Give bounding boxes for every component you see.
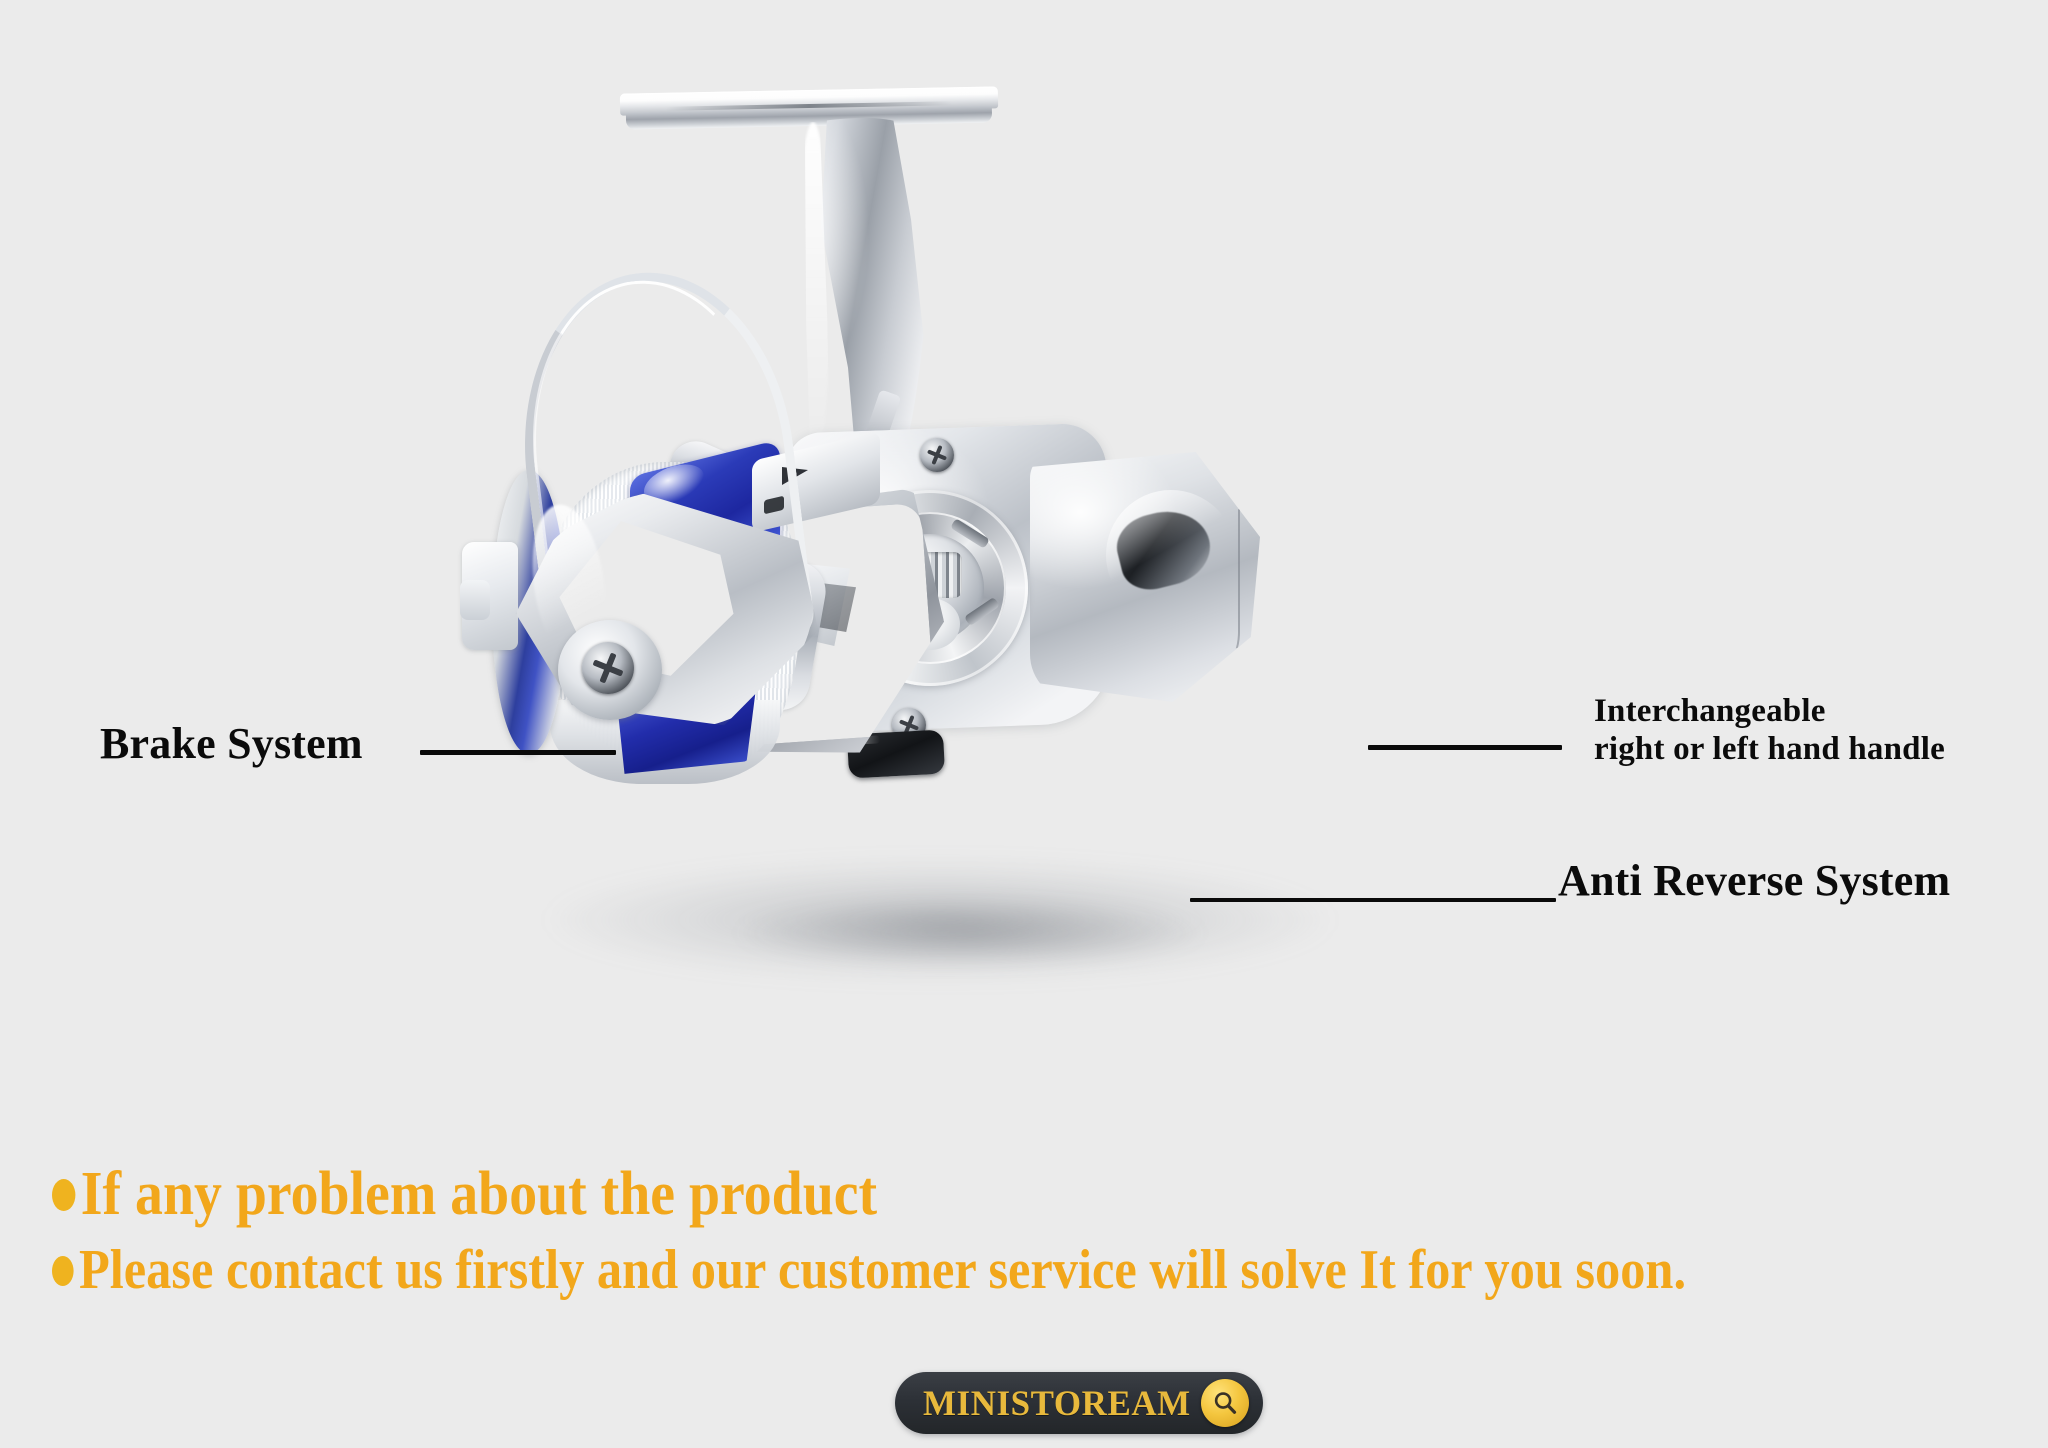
promo-line-1: If any problem about the product bbox=[52, 1160, 1816, 1229]
promo-line-2-text: Please contact us firstly and our custom… bbox=[79, 1239, 1686, 1302]
brand-name: MINISTOREAM bbox=[923, 1382, 1193, 1424]
product-photo-fishing-reel bbox=[430, 60, 1550, 960]
infographic-canvas: Brake System Interchangeable right or le… bbox=[0, 0, 2048, 1448]
promo-line-2: Please contact us firstly and our custom… bbox=[52, 1239, 1816, 1302]
brand-logo-badge[interactable]: MINISTOREAM bbox=[895, 1372, 1263, 1434]
bullet-dot-icon bbox=[52, 1256, 74, 1286]
callout-label-interchangeable-handle: Interchangeable right or left hand handl… bbox=[1594, 692, 2048, 769]
callout-label-line2: right or left hand handle bbox=[1594, 730, 2048, 768]
spool-brake-knob-lip bbox=[460, 580, 490, 620]
callout-leader-line-interchangeable bbox=[1368, 745, 1562, 750]
callout-label-brake-system: Brake System bbox=[100, 718, 363, 769]
product-shadow-core bbox=[730, 898, 1210, 968]
promo-line-1-text: If any problem about the product bbox=[81, 1160, 877, 1229]
body-screw-top bbox=[920, 438, 954, 472]
promo-text-block: If any problem about the product Please … bbox=[52, 1160, 2012, 1302]
search-icon bbox=[1201, 1379, 1249, 1427]
callout-leader-line-brake bbox=[420, 750, 616, 755]
bullet-dot-icon bbox=[52, 1179, 75, 1211]
callout-leader-line-anti-reverse bbox=[1190, 898, 1556, 902]
callout-label-anti-reverse-system: Anti Reverse System bbox=[1558, 855, 1950, 906]
callout-label-line1: Interchangeable bbox=[1594, 692, 2048, 730]
bail-pivot-screw bbox=[582, 642, 634, 694]
